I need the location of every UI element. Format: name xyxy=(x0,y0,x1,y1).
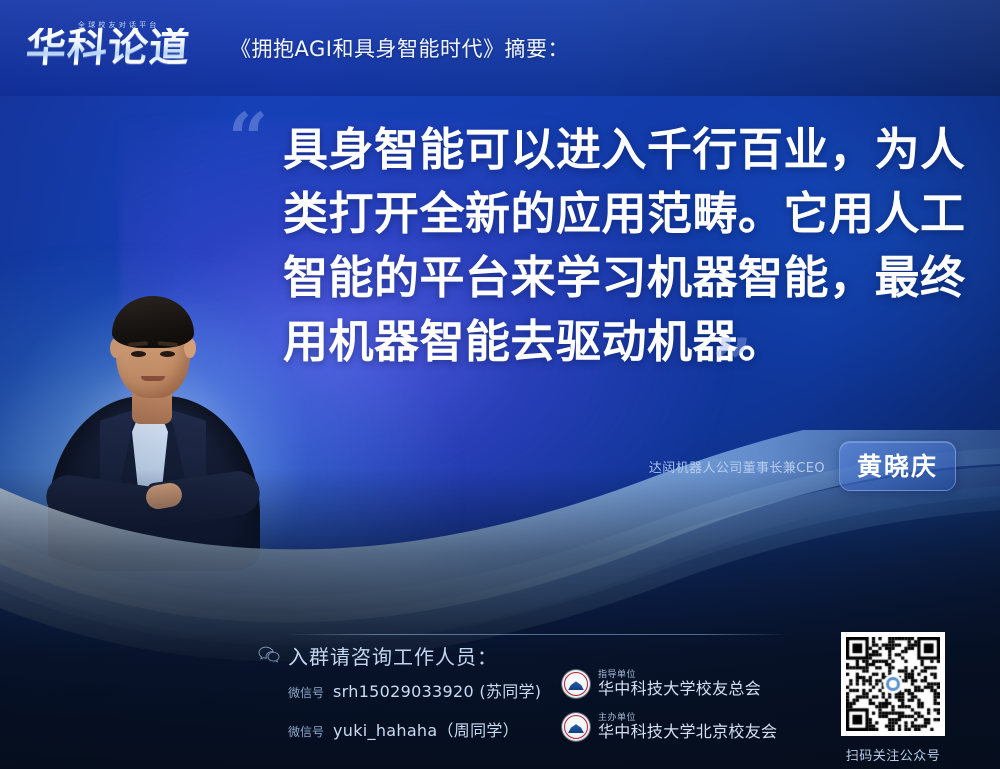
contact-value[interactable]: yuki_hahaha（周同学） xyxy=(333,717,519,741)
speaker-name-badge: 黄晓庆 xyxy=(839,441,956,491)
header-bar: 全球校友对话平台 华科论道 《拥抱AGI和具身智能时代》摘要： xyxy=(0,0,1000,96)
contact-row: 微信号 yuki_hahaha（周同学） xyxy=(288,717,519,741)
footer-divider xyxy=(286,634,790,635)
quote-open-mark: “ xyxy=(228,104,268,174)
organization-list: 指导单位 华中科技大学校友总会 主办单位 华中科技大学北京校友会 xyxy=(562,670,777,741)
organization-item: 主办单位 华中科技大学北京校友会 xyxy=(562,713,777,742)
quote-line: 类打开全新的应用范畴。它用人工 xyxy=(283,182,943,246)
speaker-role: 达闼机器人公司董事长兼CEO xyxy=(649,457,825,476)
university-emblem-icon xyxy=(562,670,590,698)
wechat-icon xyxy=(258,646,280,664)
page-title: 《拥抱AGI和具身智能时代》摘要： xyxy=(230,33,569,63)
qr-code-block: 扫码关注公众号 xyxy=(833,632,953,764)
organization-name: 华中科技大学北京校友会 xyxy=(598,723,777,741)
qr-caption: 扫码关注公众号 xyxy=(833,745,953,764)
contact-label: 微信号 xyxy=(288,684,324,701)
contact-value[interactable]: srh15029033920 (苏同学) xyxy=(333,678,541,702)
brand-logo: 全球校友对话平台 华科论道 xyxy=(26,17,216,79)
qr-code-image xyxy=(846,637,940,731)
qr-code[interactable] xyxy=(841,632,945,736)
quote-line: 具身智能可以进入千行百业，为人 xyxy=(283,118,943,182)
logo-wordmark: 华科论道 xyxy=(25,28,192,68)
quote-line: 用机器智能去驱动机器。 xyxy=(283,310,943,374)
quote-text: 具身智能可以进入千行百业，为人 类打开全新的应用范畴。它用人工 智能的平台来学习… xyxy=(283,118,943,374)
contact-heading: 入群请咨询工作人员： xyxy=(288,641,498,670)
quote-line: 智能的平台来学习机器智能，最终 xyxy=(283,246,943,310)
contact-row: 微信号 srh15029033920 (苏同学) xyxy=(288,678,541,702)
organization-item: 指导单位 华中科技大学校友总会 xyxy=(562,670,777,699)
quote-close-mark: ” xyxy=(712,330,752,400)
contact-label: 微信号 xyxy=(288,723,324,740)
university-emblem-icon xyxy=(562,713,590,741)
organization-name: 华中科技大学校友总会 xyxy=(598,680,761,698)
speaker-attribution: 达闼机器人公司董事长兼CEO 黄晓庆 xyxy=(649,441,956,491)
poster-canvas: 全球校友对话平台 华科论道 《拥抱AGI和具身智能时代》摘要： “ 具身智能可以… xyxy=(0,0,1000,769)
